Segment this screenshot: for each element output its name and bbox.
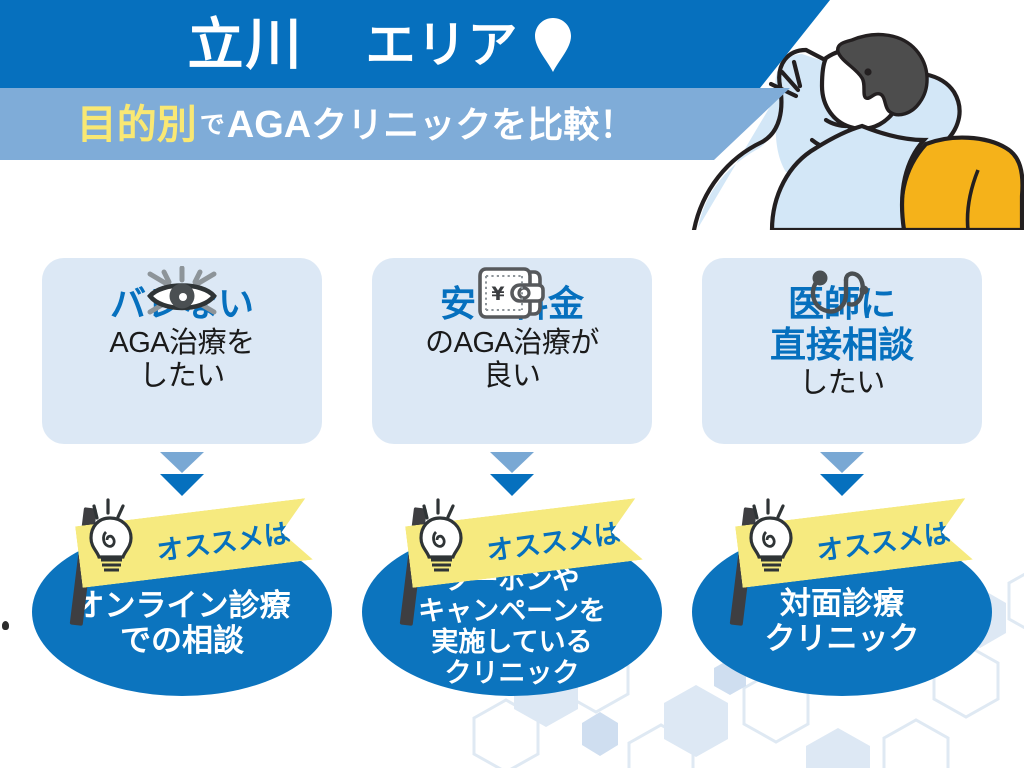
arrow-lower-2 <box>490 474 534 496</box>
need-card-3[interactable]: 医師に 直接相談 したい <box>702 258 982 444</box>
column-ishi-soudan: 医師に 直接相談 したい 対面診療 クリニック オススメは <box>692 196 992 702</box>
arrow-upper-1 <box>160 452 204 473</box>
recommend-label-2: オススメは <box>484 511 623 568</box>
stethoscope-icon <box>802 266 882 320</box>
comparison-columns: バレない AGA治療を したい オンライン診療 での相談 オススメは <box>0 196 1024 768</box>
lightbulb-icon-3 <box>740 498 802 578</box>
location-pin-icon <box>533 16 573 74</box>
column-bare-nai: バレない AGA治療を したい オンライン診療 での相談 オススメは <box>32 196 332 702</box>
lightbulb-icon-1 <box>80 498 142 578</box>
stray-ink-mark <box>2 621 9 630</box>
infographic-canvas: 立川 エリア 目的別 で AGA クリニックを比較！ <box>0 0 1024 768</box>
card-subtext-2: のAGA治療が 良い <box>382 327 642 394</box>
card-subtext-3: したい <box>712 367 972 401</box>
yen-wallet-icon: ¥ <box>472 266 552 320</box>
double-down-arrow-icon-2 <box>490 452 534 500</box>
need-card-1[interactable]: バレない AGA治療を したい <box>42 258 322 444</box>
double-down-arrow-icon-3 <box>820 452 864 500</box>
arrow-lower-1 <box>160 474 204 496</box>
header-subtitle-row: 目的別 で AGA クリニックを比較！ <box>0 92 712 158</box>
result-bubble-2[interactable]: クーポンや キャンペーンを 実施している クリニック オススメは <box>362 502 662 702</box>
need-card-2[interactable]: ¥ 安い料金 のAGA治療が 良い <box>372 258 652 444</box>
card-subtext-1: AGA治療を したい <box>52 327 312 394</box>
arrow-lower-3 <box>820 474 864 496</box>
subtitle-rest: クリニックを比較！ <box>311 107 635 143</box>
page-title-label: エリア <box>366 20 519 70</box>
double-down-arrow-icon-1 <box>160 452 204 500</box>
column-yasui-ryokin: ¥ 安い料金 のAGA治療が 良い クーポンや キャンペーンを 実施している ク… <box>362 196 662 702</box>
page-title-area: 立川 <box>188 17 304 73</box>
arrow-upper-2 <box>490 452 534 473</box>
header-title-row: 立川 エリア <box>0 2 760 88</box>
subtitle-particle: で <box>197 113 227 138</box>
svg-text:¥: ¥ <box>491 283 504 305</box>
result-bubble-1[interactable]: オンライン診療 での相談 オススメは <box>32 502 332 702</box>
recommend-label-3: オススメは <box>814 511 953 568</box>
recommend-label-1: オススメは <box>154 511 293 568</box>
arrow-upper-3 <box>820 452 864 473</box>
subtitle-aga: AGA <box>227 106 311 144</box>
crossed-out-eye-icon <box>142 266 222 320</box>
lightbulb-icon-2 <box>410 498 472 578</box>
header: 立川 エリア 目的別 で AGA クリニックを比較！ <box>0 0 1024 165</box>
subtitle-highlight: 目的別 <box>77 105 197 145</box>
result-bubble-3[interactable]: 対面診療 クリニック オススメは <box>692 502 992 702</box>
